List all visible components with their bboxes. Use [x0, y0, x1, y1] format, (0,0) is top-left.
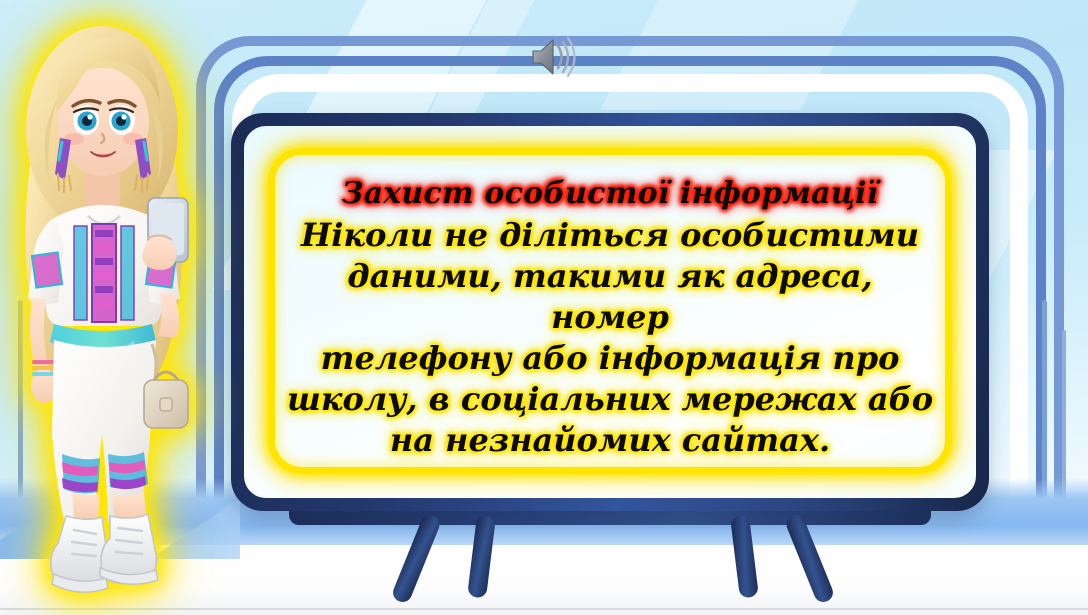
tv-frame: Захист особистої інформації Ніколи не ді… [231, 113, 989, 511]
screen-text-block: Захист особистої інформації Ніколи не ді… [284, 178, 936, 461]
sneaker [100, 514, 158, 584]
speaker-volume-icon[interactable] [527, 33, 579, 81]
character-illustration-girl [0, 2, 216, 615]
slide-title: Захист особистої інформації [284, 178, 936, 210]
tv-screen: Захист особистої інформації Ніколи не ді… [244, 126, 976, 498]
slide-body-line: Ніколи не діліться особистими [284, 215, 936, 256]
slide-body-line: телефону або інформація про [284, 338, 936, 379]
slide-body-line: школу, в соціальних мережах або [284, 379, 936, 420]
slide-stage: Захист особистої інформації Ніколи не ді… [0, 0, 1088, 615]
sneaker [51, 516, 108, 592]
slide-body-line: даними, такими як адреса, номер [284, 256, 936, 338]
slide-body-line: на незнайомих сайтах. [284, 420, 936, 461]
